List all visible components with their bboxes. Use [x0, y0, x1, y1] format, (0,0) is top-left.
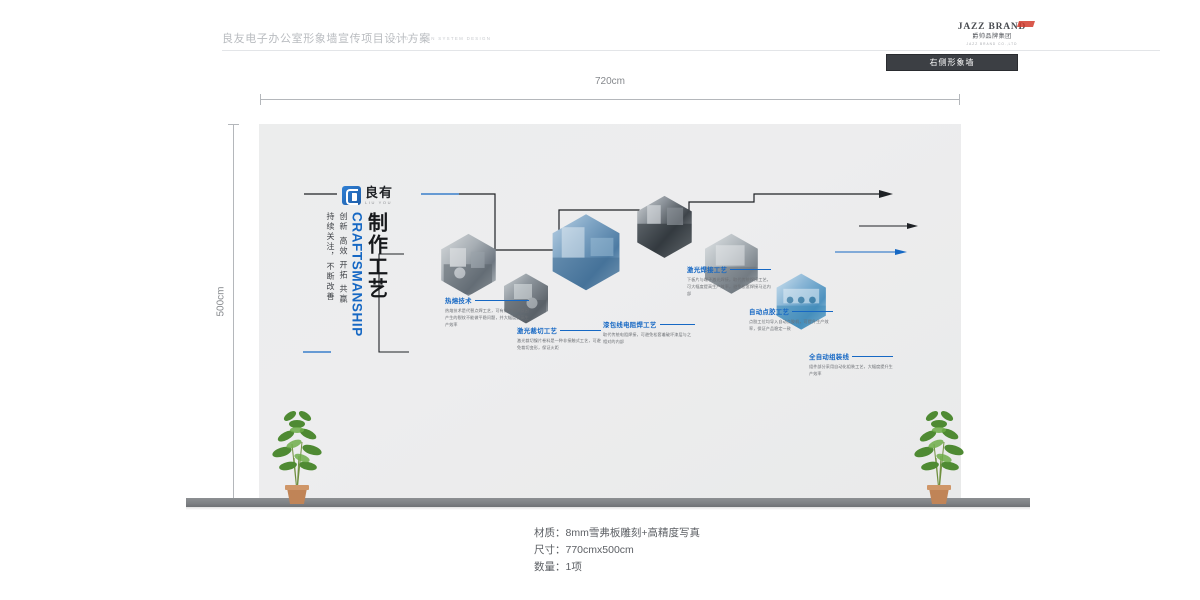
callout-rule: [475, 300, 529, 301]
callout-rule: [852, 356, 893, 357]
callout-auto-dispensing: 自动点胶工艺 点胶工位均导入自动点胶机，可提升生产效率，保证产品稳定一致: [749, 307, 833, 333]
callout-rule: [730, 269, 771, 270]
page-subtitle: VISUAL SIGN SYSTEM DESIGN: [394, 36, 491, 41]
callout-header: 漆包线电阻焊工艺: [603, 320, 695, 329]
plant-left-icon: [268, 400, 326, 505]
badge-label: 右侧形象墙: [930, 57, 975, 68]
brand-logo: JAZZ BRAND 爵帅品牌集团 JAZZ BRAND CO.,LTD: [952, 22, 1032, 48]
floor-shadow: [186, 507, 1030, 510]
callout-header: 全自动组装线: [809, 352, 893, 361]
callout-enameled-wire: 漆包线电阻焊工艺 取代传统电阻焊接，可避免松套着破坏漆层与之相对的内部: [603, 320, 695, 346]
callout-title: 热熔技术: [445, 296, 472, 305]
brand-tagline: JAZZ BRAND CO.,LTD: [952, 42, 1032, 47]
company-logo: 良有 LIU YOU: [342, 184, 416, 206]
logo-name-en: LIU YOU: [365, 201, 393, 205]
callout-header: 激光焊接工艺: [687, 265, 771, 274]
dimension-width: 720cm: [260, 94, 960, 104]
spec-material: 材质：8mm雪弗板雕刻+高精度写真: [534, 525, 700, 542]
callout-body: 激光裁切镍片卷料是一种非接触式工艺，可避免裁切变形，保证火距: [517, 338, 601, 352]
design-proposal-page: 良友电子办公室形象墙宣传项目设计方案 VISUAL SIGN SYSTEM DE…: [0, 0, 1200, 600]
callout-title: 漆包线电阻焊工艺: [603, 320, 657, 329]
callout-header: 激光裁切工艺: [517, 326, 601, 335]
page-header: 良友电子办公室形象墙宣传项目设计方案 VISUAL SIGN SYSTEM DE…: [0, 0, 1200, 52]
brand-name-cn: 爵帅品牌集团: [952, 33, 1032, 41]
callout-assembly-line: 全自动组装线 组件部分采用自动化组装工艺，大幅度提升生产效率: [809, 352, 893, 378]
callout-rule: [660, 324, 695, 325]
callout-rule: [792, 311, 833, 312]
callout-title: 激光裁切工艺: [517, 326, 557, 335]
callout-title: 全自动组装线: [809, 352, 849, 361]
plant-right-icon: [910, 400, 968, 505]
callout-body: 点胶工位均导入自动点胶机，可提升生产效率，保证产品稳定一致: [749, 319, 833, 333]
hex-photo-1: [441, 234, 496, 296]
callout-title: 自动点胶工艺: [749, 307, 789, 316]
status-badge: 右侧形象墙: [886, 54, 1018, 71]
dimension-width-label: 720cm: [260, 76, 960, 87]
brand-flag-icon: [1017, 21, 1035, 27]
vertical-headline: 制作工艺 CRAFTSMANSHIP 创新 高效 开拓 共赢 持续关注，不断改善: [323, 212, 386, 382]
dimension-height-label: 500cm: [216, 286, 227, 316]
callout-laser-welding: 激光焊接工艺 下板片与端子激光焊接，取代传统焊接工艺，可大幅度提高生产效率，避免…: [687, 265, 771, 297]
callout-body: 组件部分采用自动化组装工艺，大幅度提升生产效率: [809, 364, 893, 378]
header-divider-left: [222, 50, 982, 51]
dimension-height: 500cm: [228, 124, 240, 506]
flow-arrows-right: [835, 223, 918, 255]
callout-header: 热熔技术: [445, 296, 529, 305]
headline-slogan-1: 创新 高效 开拓 共赢: [339, 212, 347, 305]
headline-cn: 制作工艺: [365, 212, 386, 300]
callout-rule: [560, 330, 601, 331]
wall-mockup: 良有 LIU YOU 制作工艺 CRAFTSMANSHIP 创新 高效 开拓 共…: [259, 124, 961, 498]
headline-en: CRAFTSMANSHIP: [350, 212, 364, 337]
callout-laser-cutting: 激光裁切工艺 激光裁切镍片卷料是一种非接触式工艺，可避免裁切变形，保证火距: [517, 326, 601, 352]
spec-list: 材质：8mm雪弗板雕刻+高精度写真 尺寸：770cmx500cm 数量：1项: [534, 525, 700, 576]
dimension-width-cap-right: [959, 94, 960, 105]
header-divider-right: [940, 50, 1160, 51]
headline-slogan-2: 持续关注，不断改善: [326, 212, 334, 302]
callout-header: 自动点胶工艺: [749, 307, 833, 316]
logo-name-cn: 良有: [365, 186, 393, 199]
hex-photo-4: [637, 196, 692, 259]
callout-body: 下板片与端子激光焊接，取代传统焊接工艺，可大幅度提高生产效率，避免松套焊接马达内…: [687, 277, 771, 297]
logo-mark-icon: [342, 186, 361, 205]
logo-text: 良有 LIU YOU: [365, 186, 393, 205]
dimension-width-line: [260, 99, 960, 100]
callout-hot-melt: 热熔技术 热熔技术是代替点焊工艺，可有效改善焊点因产生的裂纹不能做平稳问题，并大…: [445, 296, 529, 328]
spec-size: 尺寸：770cmx500cm: [534, 542, 700, 559]
dimension-height-line: [233, 124, 234, 506]
hex-photo-3: [553, 214, 620, 291]
callout-title: 激光焊接工艺: [687, 265, 727, 274]
flow-arrowhead-1: [879, 190, 893, 198]
spec-quantity: 数量：1项: [534, 559, 700, 576]
callout-body: 取代传统电阻焊接，可避免松套着破坏漆层与之相对的内部: [603, 332, 695, 346]
